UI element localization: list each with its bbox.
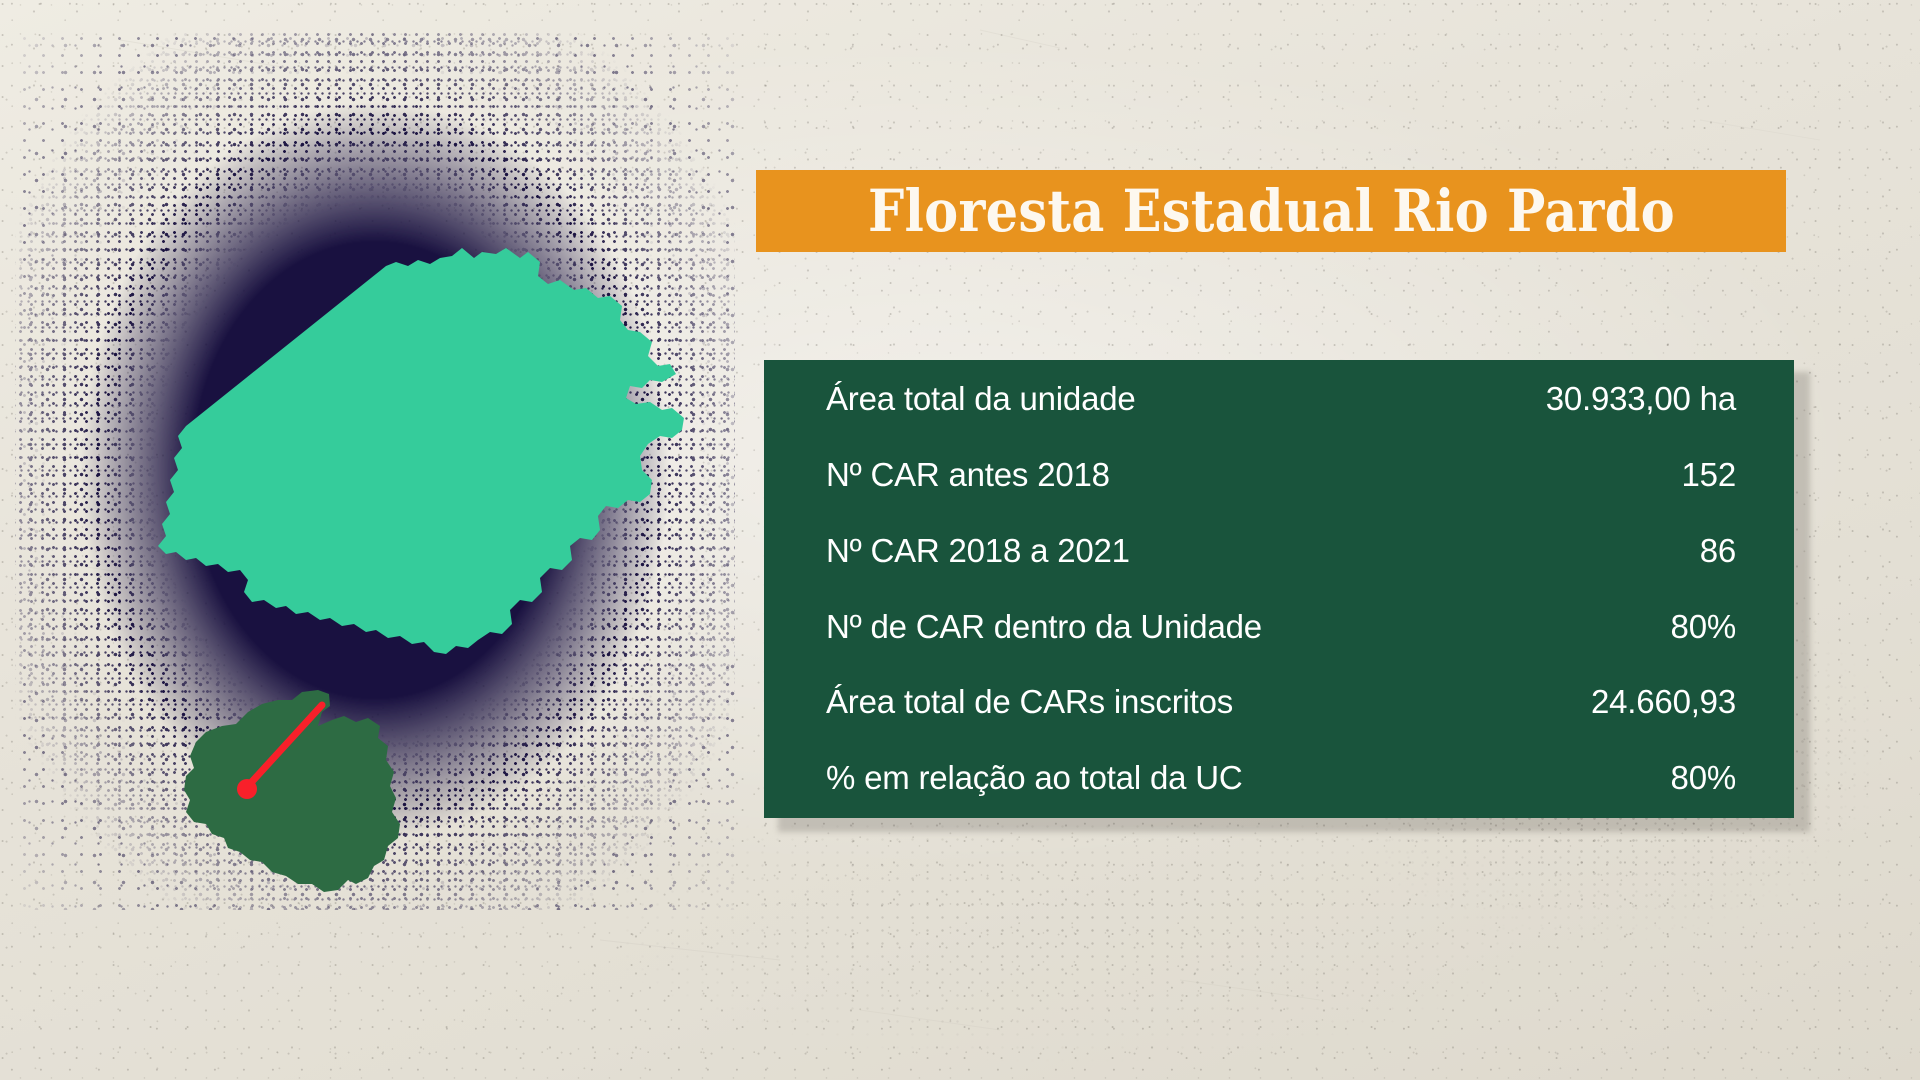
row-value: 24.660,93 <box>1591 685 1736 720</box>
table-row: Nº CAR 2018 a 2021 86 <box>826 534 1736 569</box>
map-panel <box>0 0 760 1080</box>
row-value: 30.933,00 ha <box>1546 382 1736 417</box>
row-label: Nº de CAR dentro da Unidade <box>826 610 1262 645</box>
floresta-estadual-rio-pardo-boundary <box>158 248 684 654</box>
row-value: 80% <box>1671 610 1736 645</box>
row-value: 86 <box>1700 534 1736 569</box>
table-row: Nº CAR antes 2018 152 <box>826 458 1736 493</box>
location-marker <box>237 779 257 799</box>
table-row: Área total da unidade 30.933,00 ha <box>826 382 1736 417</box>
table-row: % em relação ao total da UC 80% <box>826 761 1736 796</box>
row-value: 152 <box>1682 458 1736 493</box>
table-row: Área total de CARs inscritos 24.660,93 <box>826 685 1736 720</box>
row-label: Nº CAR 2018 a 2021 <box>826 534 1130 569</box>
map-graphic <box>0 0 760 1080</box>
table-row: Nº de CAR dentro da Unidade 80% <box>826 610 1736 645</box>
data-panel: Área total da unidade 30.933,00 ha Nº CA… <box>764 360 1794 818</box>
row-label: Nº CAR antes 2018 <box>826 458 1110 493</box>
row-label: % em relação ao total da UC <box>826 761 1242 796</box>
title-band: Floresta Estadual Rio Pardo <box>756 170 1786 252</box>
row-label: Área total de CARs inscritos <box>826 685 1233 720</box>
row-value: 80% <box>1671 761 1736 796</box>
state-outline-inset <box>184 690 400 892</box>
row-label: Área total da unidade <box>826 382 1136 417</box>
page-title: Floresta Estadual Rio Pardo <box>868 177 1675 245</box>
